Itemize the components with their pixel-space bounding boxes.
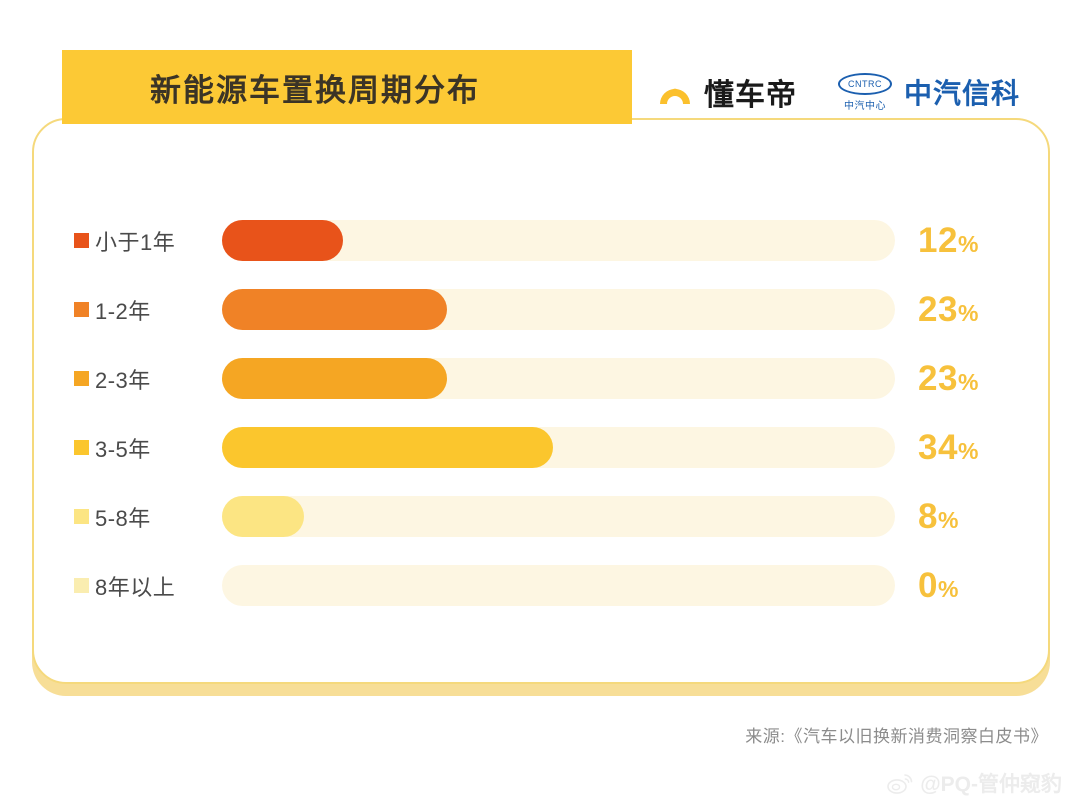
bar-track [222,358,895,399]
bar-row: 3-5年34% [32,413,1050,482]
legend-swatch-icon [74,509,89,524]
arch-logo-icon [655,72,695,112]
bar-chart: 小于1年12%1-2年23%2-3年23%3-5年34%5-8年8%8年以上0% [32,118,1050,684]
bar-value-label: 8% [918,497,959,537]
cntrc-mark-sub: 中汽中心 [844,97,886,112]
bar-track [222,565,895,606]
bar-row: 8年以上0% [32,551,1050,620]
watermark-text: @PQ-管仲窥豹 [920,768,1062,798]
bar-track [222,427,895,468]
oval-mark-icon: CNTRC 中汽中心 [835,73,895,112]
weibo-icon [887,773,913,794]
bar-track [222,220,895,261]
bar-value-number: 8 [918,497,938,536]
header: 新能源车置换周期分布 懂车帝 CNTRC 中汽中心 中汽信科 [0,0,1082,130]
percent-sign: % [958,438,979,464]
legend-label: 1-2年 [95,294,151,326]
page-title: 新能源车置换周期分布 [150,65,480,110]
logo-catarc-label: 中汽信科 [904,72,1020,112]
bar-legend: 8年以上 [32,570,222,602]
bar-legend: 小于1年 [32,225,222,257]
percent-sign: % [938,507,959,533]
percent-sign: % [958,369,979,395]
legend-label: 3-5年 [95,432,151,464]
legend-label: 8年以上 [95,570,175,602]
percent-sign: % [958,231,979,257]
bar-value-label: 34% [918,428,979,468]
watermark: @PQ-管仲窥豹 [887,768,1062,798]
bar-value-number: 34 [918,428,958,467]
bar-legend: 1-2年 [32,294,222,326]
bar-fill [222,289,447,330]
bar-fill [222,358,447,399]
bar-value-number: 0 [918,566,938,605]
bar-legend: 3-5年 [32,432,222,464]
legend-swatch-icon [74,578,89,593]
bar-legend: 2-3年 [32,363,222,395]
bar-value-number: 23 [918,359,958,398]
bar-value-number: 12 [918,221,958,260]
bar-value-number: 23 [918,290,958,329]
logo-dongchedi-label: 懂车帝 [704,70,797,114]
bar-value-label: 12% [918,221,979,261]
source-note: 来源:《汽车以旧换新消费洞察白皮书》 [745,722,1048,747]
bar-track [222,496,895,537]
legend-swatch-icon [74,233,89,248]
bar-value-label: 0% [918,566,959,606]
bar-row: 小于1年12% [32,206,1050,275]
bar-fill [222,427,553,468]
bar-row: 5-8年8% [32,482,1050,551]
legend-swatch-icon [74,371,89,386]
legend-label: 小于1年 [95,225,175,257]
bar-fill [222,220,343,261]
logo-dongchedi: 懂车帝 [655,70,797,114]
title-banner: 新能源车置换周期分布 [62,50,632,124]
legend-label: 2-3年 [95,363,151,395]
bar-row: 2-3年23% [32,344,1050,413]
percent-sign: % [958,300,979,326]
legend-label: 5-8年 [95,501,151,533]
bar-fill [222,496,304,537]
bar-legend: 5-8年 [32,501,222,533]
bar-track [222,289,895,330]
legend-swatch-icon [74,440,89,455]
logo-group: 懂车帝 CNTRC 中汽中心 中汽信科 [655,62,1020,122]
logo-catarc: CNTRC 中汽中心 中汽信科 [835,72,1020,112]
bar-row: 1-2年23% [32,275,1050,344]
legend-swatch-icon [74,302,89,317]
cntrc-mark-text: CNTRC [848,79,882,89]
bar-value-label: 23% [918,290,979,330]
percent-sign: % [938,576,959,602]
bar-value-label: 23% [918,359,979,399]
